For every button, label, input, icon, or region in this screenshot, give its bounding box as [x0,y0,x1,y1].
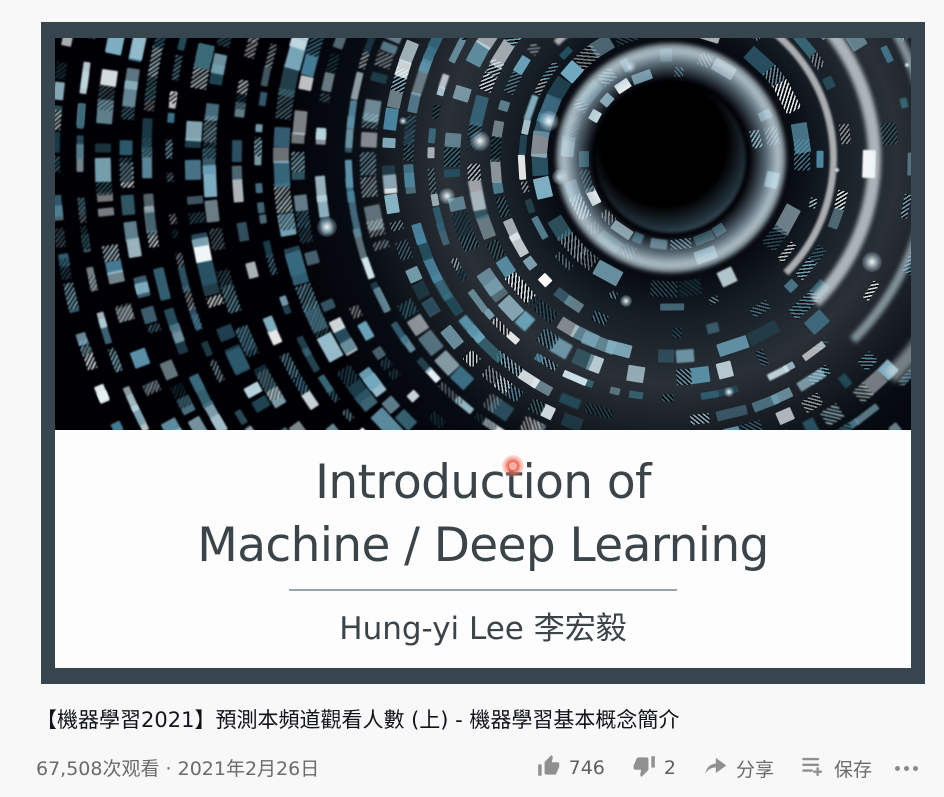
video-action-bar: 746 2 [523,746,932,790]
laser-pointer-dot [502,455,524,477]
view-count-and-date: 67,508次观看 · 2021年2月26日 [36,754,319,781]
save-button[interactable]: 保存 [787,748,885,788]
video-meta: 【機器學習2021】預測本頻道觀看人數 (上) - 機器學習基本概念簡介 67,… [0,690,944,797]
slide-artwork [55,38,911,430]
thumbs-up-icon [536,753,562,784]
like-button[interactable]: 746 [523,748,618,788]
share-label: 分享 [736,755,774,782]
video-title: 【機器學習2021】預測本頻道觀看人數 (上) - 機器學習基本概念簡介 [36,704,679,734]
more-actions-button[interactable] [885,748,932,788]
dislike-button[interactable]: 2 [618,748,689,788]
video-page: Introduction of Machine / Deep Learning … [0,0,944,797]
more-horizontal-icon-dot-2 [904,766,909,771]
slide-author: Hung-yi Lee 李宏毅 [339,603,626,648]
thumbs-down-icon [631,753,657,784]
slide-heading: Introduction of Machine / Deep Learning [197,452,769,577]
dislike-count: 2 [664,757,676,779]
share-button[interactable]: 分享 [689,748,787,788]
save-label: 保存 [834,755,872,782]
video-stats-row: 67,508次观看 · 2021年2月26日 746 [0,746,944,790]
slide-divider [289,589,677,591]
more-horizontal-icon-dot-3 [913,766,918,771]
video-player[interactable]: Introduction of Machine / Deep Learning … [41,22,925,684]
more-horizontal-icon-dot-1 [895,766,900,771]
slide-frame: Introduction of Machine / Deep Learning … [55,38,911,668]
share-arrow-icon [702,752,729,784]
artwork-core [596,83,746,233]
slide-title-card: Introduction of Machine / Deep Learning … [55,430,911,668]
save-playlist-icon [800,752,827,784]
like-count: 746 [569,757,605,779]
